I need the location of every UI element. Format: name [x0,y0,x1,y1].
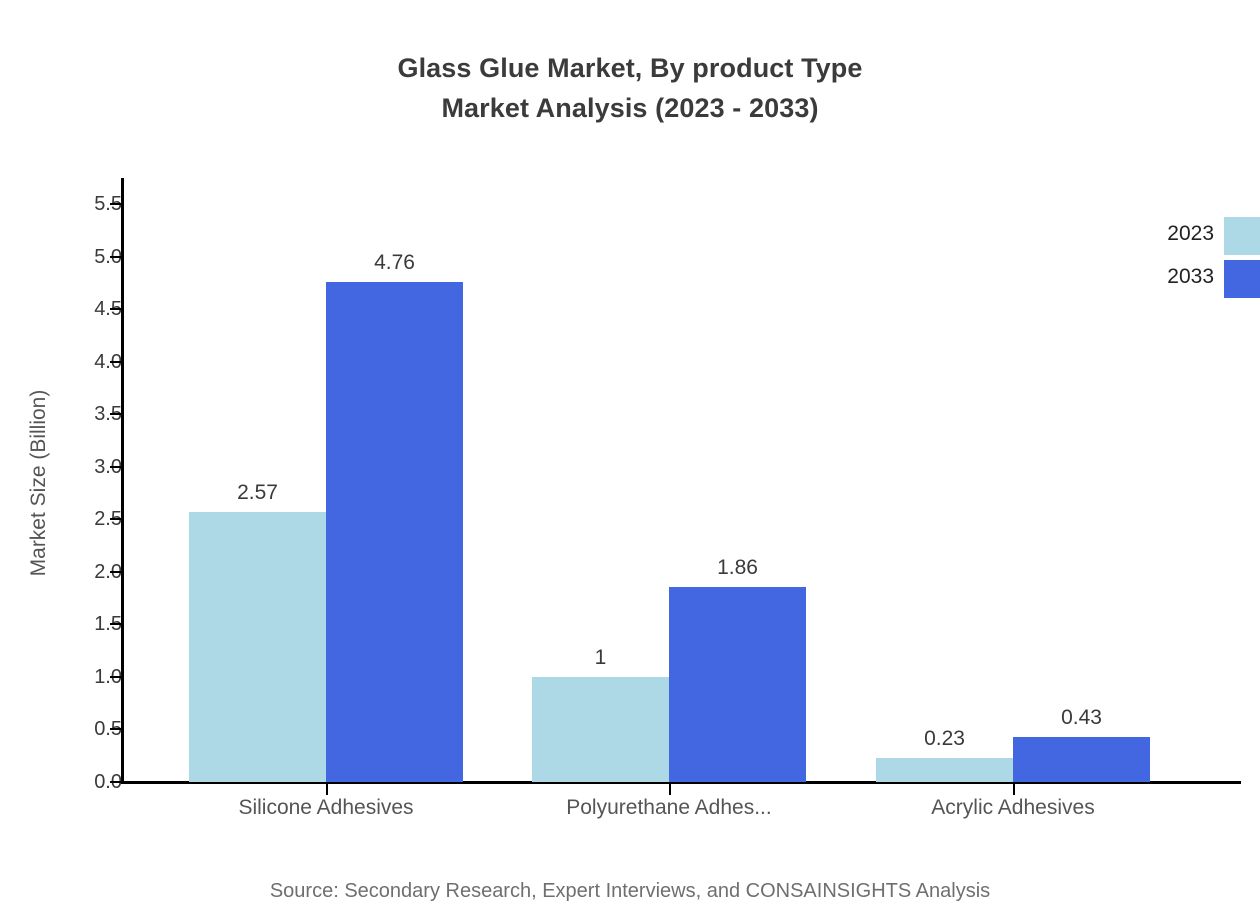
y-tick-mark [110,676,122,678]
y-tick-mark [110,308,122,310]
y-tick-1.5: 1.5 [0,614,122,634]
x-tick-mark [1013,784,1015,795]
bar-2023-2[interactable] [532,677,669,782]
y-tick-3.5: 3.5 [0,404,122,424]
y-tick-mark [110,256,122,258]
legend-label-2033: 2033 [1100,266,1214,288]
y-axis-title: Market Size (Billion) [27,183,51,783]
legend-swatch-2033 [1224,260,1260,298]
y-tick-mark [110,466,122,468]
y-tick-mark [110,361,122,363]
y-tick-mark [110,571,122,573]
source-note: Source: Secondary Research, Expert Inter… [0,878,1260,904]
bar-2023-1[interactable] [189,512,326,782]
legend-swatch-2023 [1224,217,1260,255]
x-axis-label-3: Acrylic Adhesives [813,795,1213,821]
y-axis-spine [121,178,124,784]
y-tick-3.0: 3.0 [0,457,122,477]
legend-item-2023[interactable]: 2023 [1100,215,1260,255]
y-tick-2.0: 2.0 [0,562,122,582]
chart-legend: 20232033 [1100,215,1260,310]
y-tick-mark [110,623,122,625]
y-tick-0.0: 0.0 [0,772,122,792]
y-tick-4.0: 4.0 [0,352,122,372]
bar-2023-3[interactable] [876,758,1013,782]
bar-2033-3[interactable] [1013,737,1150,782]
bar-value-label-2033-3: 0.43 [973,707,1190,729]
y-tick-1.0: 1.0 [0,667,122,687]
y-tick-mark [110,203,122,205]
x-tick-mark [669,784,671,795]
y-tick-2.5: 2.5 [0,509,122,529]
x-axis-label-1: Silicone Adhesives [126,795,526,821]
y-tick-0.5: 0.5 [0,719,122,739]
x-tick-mark [326,784,328,795]
legend-item-2033[interactable]: 2033 [1100,258,1260,298]
bar-2033-1[interactable] [326,282,463,782]
legend-label-2023: 2023 [1100,223,1214,245]
bar-value-label-2033-2: 1.86 [629,557,846,579]
y-tick-mark [110,728,122,730]
y-tick-mark [110,413,122,415]
bar-2033-2[interactable] [669,587,806,782]
x-axis-label-2: Polyurethane Adhes... [469,795,869,821]
y-tick-5.5: 5.5 [0,194,122,214]
y-tick-4.5: 4.5 [0,299,122,319]
y-tick-5.0: 5.0 [0,247,122,267]
y-tick-mark [110,781,122,783]
y-tick-mark [110,518,122,520]
bar-chart-plot-area: Market Size (Billion) 0.00.51.01.52.02.5… [0,0,1260,920]
bar-value-label-2033-1: 4.76 [286,252,503,274]
